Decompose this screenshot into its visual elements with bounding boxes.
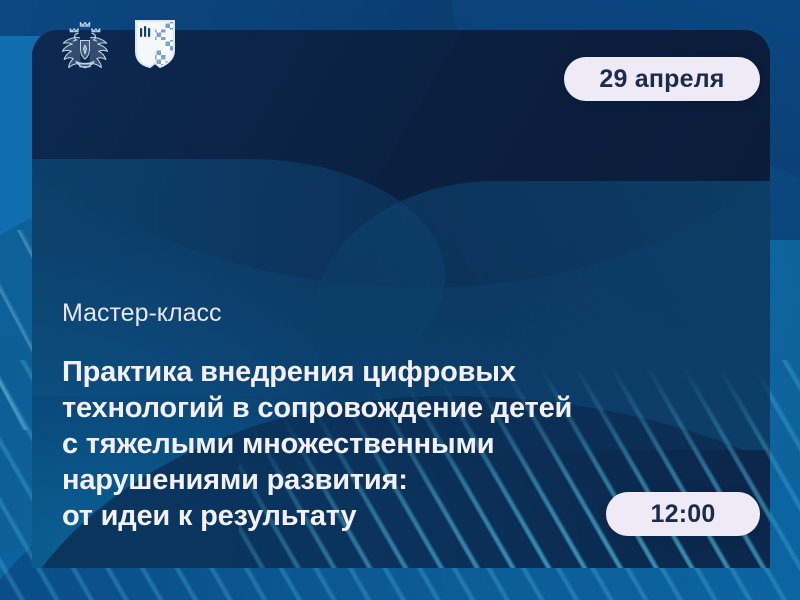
russian-double-headed-eagle-emblem-icon: [56, 16, 114, 74]
date-badge: 29 апреля: [564, 57, 760, 101]
shield-coat-of-arms-icon: [134, 19, 176, 71]
date-badge-label: 29 апреля: [599, 65, 724, 94]
headline-line: технологий в сопровождение детей: [62, 390, 682, 426]
event-type-kicker: Мастер-класс: [62, 300, 682, 328]
logo-group: [56, 16, 176, 74]
announcement-poster: 29 апреля Мастер-класс Практика внедрени…: [0, 0, 800, 600]
headline-line: с тяжелыми множественными: [62, 426, 682, 462]
page-title: Практика внедрения цифровых технологий в…: [62, 354, 682, 534]
time-badge-label: 12:00: [651, 500, 716, 529]
headline-line: от идеи к результату: [62, 498, 682, 534]
headline-line: Практика внедрения цифровых: [62, 354, 682, 390]
headline-line: нарушениями развития:: [62, 462, 682, 498]
text-block: Мастер-класс Практика внедрения цифровых…: [62, 300, 682, 534]
time-badge: 12:00: [606, 492, 760, 536]
